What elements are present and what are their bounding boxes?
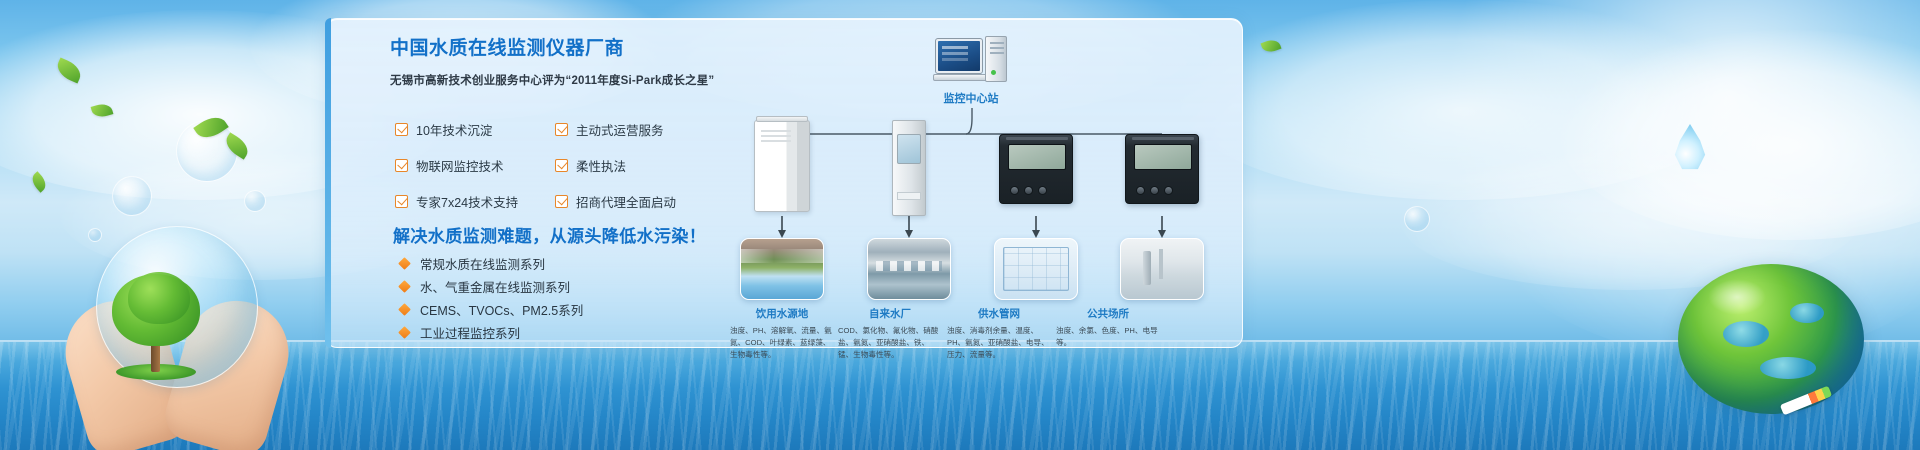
scene-caption: 供水管网 浊度、消毒剂余量、温度、PH、氨氮、亚硝酸盐、电导、压力、流量等。 (945, 306, 1053, 360)
scene-description: 浊度、余氯、色度、PH、电导等。 (1054, 325, 1162, 349)
secondary-headline: 解决水质监测难题，从源头降低水污染！ (393, 222, 706, 247)
feature-item: 专家7x24技术支持 (395, 192, 555, 211)
feature-label: 招商代理全面启动 (576, 192, 676, 211)
analyzer-display (1008, 144, 1066, 170)
scene-description: 浊度、消毒剂余量、温度、PH、氨氮、亚硝酸盐、电导、压力、流量等。 (945, 325, 1053, 360)
list-item[interactable]: 工业过程监控系列 (400, 321, 583, 344)
scene-photo-public (1120, 238, 1204, 300)
feature-label: 柔性执法 (576, 156, 626, 175)
feature-item: 主动式运营服务 (555, 120, 695, 139)
analyzer-body (999, 134, 1073, 204)
monitor-icon (935, 38, 983, 74)
scene-photo-reservoir (740, 238, 824, 300)
hands-holding-tree-illustration (72, 245, 282, 450)
cabinet-vents (761, 130, 791, 132)
series-label: 常规水质在线监测系列 (420, 254, 545, 273)
bubble-icon (112, 176, 152, 216)
page-title: 中国水质在线监测仪器厂商 (390, 38, 720, 61)
analyzer-top-strip (1132, 137, 1194, 140)
analyzer-top-strip (1006, 137, 1068, 140)
scene-photos (740, 238, 1220, 302)
device-analyzer-1 (999, 134, 1073, 204)
cabinet-cap (756, 116, 808, 122)
device-analyzer-2 (1125, 134, 1199, 204)
scene-title: 饮用水源地 (728, 306, 836, 321)
diamond-bullet-icon (398, 257, 411, 270)
list-item[interactable]: 常规水质在线监测系列 (400, 252, 583, 275)
feature-item: 柔性执法 (555, 156, 695, 175)
device-row (740, 120, 1220, 230)
analyzer-display (1134, 144, 1192, 170)
series-label: CEMS、TVOCs、PM2.5系列 (420, 300, 583, 319)
series-label: 水、气重金属在线监测系列 (420, 277, 570, 296)
product-series-list: 常规水质在线监测系列 水、气重金属在线监测系列 CEMS、TVOCs、PM2.5… (400, 252, 583, 344)
monitoring-center-computer-icon (935, 38, 1007, 84)
scene-caption: 饮用水源地 浊度、PH、溶解氧、流量、氨氮、COD、叶绿素、蓝绿藻、生物毒性等。 (728, 306, 836, 360)
earth-lake (1760, 357, 1816, 379)
feature-item: 物联网监控技术 (395, 156, 555, 175)
earth-lake (1723, 321, 1769, 347)
analyzer-buttons[interactable] (1010, 186, 1047, 195)
cabinet-label (897, 192, 921, 200)
scene-title: 供水管网 (945, 306, 1053, 321)
scene-title: 自来水厂 (836, 306, 944, 321)
diamond-bullet-icon (398, 280, 411, 293)
diamond-bullet-icon (398, 303, 411, 316)
checkbox-icon (555, 123, 568, 136)
monitoring-center-label: 监控中心站 (903, 90, 1039, 106)
checkbox-icon (395, 195, 408, 208)
system-diagram: 监控中心站 (740, 24, 1220, 344)
scene-title: 公共场所 (1054, 306, 1162, 321)
feature-label: 10年技术沉淀 (416, 120, 492, 139)
feature-item: 10年技术沉淀 (395, 120, 555, 139)
list-item[interactable]: CEMS、TVOCs、PM2.5系列 (400, 298, 583, 321)
feature-checklist: 10年技术沉淀 主动式运营服务 物联网监控技术 柔性执法 专家7x24技术支持 … (395, 120, 695, 211)
checkbox-icon (555, 195, 568, 208)
feature-label: 专家7x24技术支持 (416, 192, 518, 211)
device-cabinet-2 (892, 120, 926, 216)
earth-ball (1678, 264, 1864, 414)
bubble-icon (244, 190, 266, 212)
diamond-bullet-icon (398, 326, 411, 339)
analyzer-body (1125, 134, 1199, 204)
cabinet-body (754, 120, 810, 212)
panel-left-column: 中国水质在线监测仪器厂商 无锡市高新技术创业服务中心评为“2011年度Si-Pa… (390, 38, 720, 88)
device-cabinet-1 (754, 120, 810, 212)
keyboard-icon (933, 74, 987, 81)
earth-lake (1790, 303, 1824, 323)
analyzer-buttons[interactable] (1136, 186, 1173, 195)
bubble-icon (88, 228, 102, 242)
monitor-screen (938, 41, 980, 71)
earth-highlight (1708, 279, 1766, 315)
feature-label: 主动式运营服务 (576, 120, 664, 139)
feature-label: 物联网监控技术 (416, 156, 504, 175)
scene-photo-waterworks (867, 238, 951, 300)
page-subtitle: 无锡市高新技术创业服务中心评为“2011年度Si-Park成长之星” (390, 72, 720, 88)
scene-description: COD、氯化物、氟化物、硝酸盐、氨氮、亚硝酸盐、铁、锰、生物毒性等。 (836, 325, 944, 360)
list-item[interactable]: 水、气重金属在线监测系列 (400, 275, 583, 298)
checkbox-icon (395, 159, 408, 172)
cabinet-window (897, 134, 921, 164)
scene-caption: 自来水厂 COD、氯化物、氟化物、硝酸盐、氨氮、亚硝酸盐、铁、锰、生物毒性等。 (836, 306, 944, 360)
series-label: 工业过程监控系列 (420, 323, 520, 342)
cabinet-body (892, 120, 926, 216)
scene-caption: 公共场所 浊度、余氯、色度、PH、电导等。 (1054, 306, 1162, 349)
tree-crown (128, 272, 190, 324)
scene-description: 浊度、PH、溶解氧、流量、氨氮、COD、叶绿素、蓝绿藻、生物毒性等。 (728, 325, 836, 360)
panel-left-accent (325, 18, 331, 348)
feature-item: 招商代理全面启动 (555, 192, 695, 211)
bubble-icon (1404, 206, 1430, 232)
earth-island-illustration (1678, 264, 1864, 414)
pc-tower-icon (985, 36, 1007, 82)
scene-photo-pipeline (994, 238, 1078, 300)
checkbox-icon (555, 159, 568, 172)
checkbox-icon (395, 123, 408, 136)
